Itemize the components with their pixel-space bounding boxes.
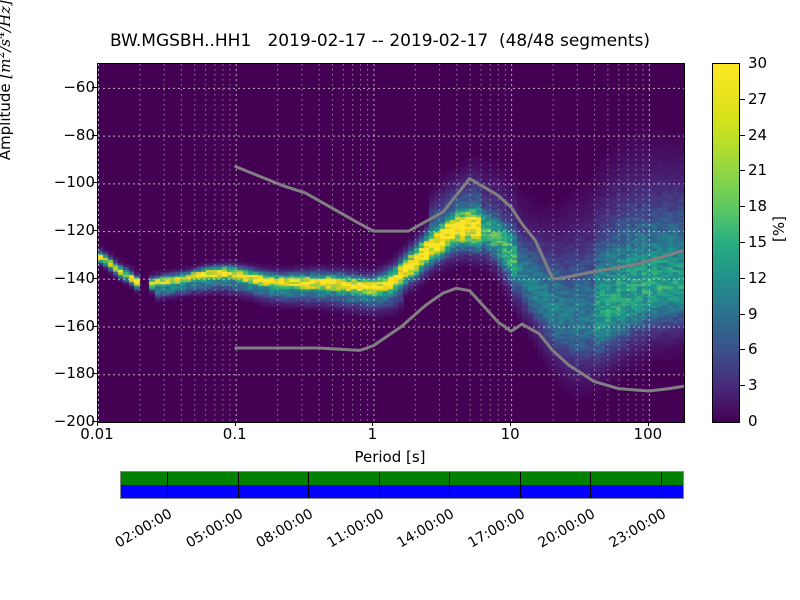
y-tick-label: −100 — [54, 173, 95, 191]
segment-timeline — [120, 471, 684, 499]
colorbar-tick-label: 0 — [748, 412, 758, 430]
timeline-tick-label: 17:00:00 — [455, 506, 527, 557]
timeline-tick-label: 05:00:00 — [173, 506, 245, 557]
timeline-tick-label: 02:00:00 — [103, 506, 175, 557]
timeline-tick-label: 11:00:00 — [314, 506, 386, 557]
timeline-separator — [308, 472, 309, 498]
y-tick-label: −160 — [54, 317, 95, 335]
colorbar-tick-mark — [740, 206, 745, 207]
timeline-data-band — [121, 472, 683, 485]
colorbar-label: [%] — [770, 216, 788, 242]
x-tick-mark — [372, 421, 373, 426]
colorbar-tick-label: 21 — [748, 161, 767, 179]
colorbar-tick-label: 27 — [748, 90, 767, 108]
timeline-separator — [379, 472, 380, 498]
y-tick-mark — [92, 326, 97, 327]
ppsd-figure: BW.MGSBH..HH1 2019-02-17 -- 2019-02-17 (… — [0, 0, 800, 600]
timeline-tick-label: 08:00:00 — [244, 506, 316, 557]
y-tick-label: −140 — [54, 269, 95, 287]
colorbar-tick-label: 3 — [748, 376, 758, 394]
y-tick-label: −80 — [63, 126, 95, 144]
colorbar-tick-mark — [740, 242, 745, 243]
timeline-separator — [520, 472, 521, 498]
colorbar-tick-mark — [740, 278, 745, 279]
y-tick-mark — [92, 135, 97, 136]
colorbar-tick-label: 12 — [748, 269, 767, 287]
x-tick-label: 10 — [501, 425, 520, 443]
timeline-tick-label: 14:00:00 — [385, 506, 457, 557]
colorbar — [712, 63, 740, 423]
x-tick-mark — [97, 421, 98, 426]
colorbar-tick-label: 18 — [748, 197, 767, 215]
colorbar-tick-label: 6 — [748, 340, 758, 358]
y-tick-label: −180 — [54, 364, 95, 382]
x-tick-mark — [510, 421, 511, 426]
y-tick-label: −120 — [54, 221, 95, 239]
y-tick-mark — [92, 278, 97, 279]
y-tick-mark — [92, 87, 97, 88]
colorbar-tick-label: 9 — [748, 305, 758, 323]
colorbar-tick-mark — [740, 349, 745, 350]
timeline-separator — [661, 472, 662, 498]
y-axis-label: Amplitude [m2/s4/Hz] [dB] — [0, 0, 14, 242]
y-tick-mark — [92, 182, 97, 183]
timeline-separator — [449, 472, 450, 498]
x-tick-label: 0.01 — [80, 425, 113, 443]
colorbar-tick-label: 24 — [748, 126, 767, 144]
colorbar-tick-label: 15 — [748, 233, 767, 251]
y-tick-mark — [92, 373, 97, 374]
plot-title: BW.MGSBH..HH1 2019-02-17 -- 2019-02-17 (… — [0, 31, 760, 51]
timeline-tick-label: 23:00:00 — [596, 506, 668, 557]
x-tick-label: 1 — [368, 425, 378, 443]
y-tick-label: −60 — [63, 78, 95, 96]
colorbar-tick-mark — [740, 385, 745, 386]
timeline-tick-label: 20:00:00 — [526, 506, 598, 557]
x-axis-label: Period [s] — [97, 448, 683, 466]
ppsd-axes — [97, 63, 685, 423]
colorbar-tick-mark — [740, 314, 745, 315]
colorbar-tick-mark — [740, 170, 745, 171]
colorbar-tick-mark — [740, 135, 745, 136]
colorbar-tick-label: 30 — [748, 54, 767, 72]
y-tick-mark — [92, 230, 97, 231]
x-tick-mark — [648, 421, 649, 426]
noise-model-curves — [98, 64, 684, 422]
x-tick-label: 0.1 — [223, 425, 247, 443]
timeline-separator — [590, 472, 591, 498]
timeline-used-band — [121, 485, 683, 498]
colorbar-tick-mark — [740, 99, 745, 100]
x-tick-label: 100 — [634, 425, 663, 443]
x-tick-mark — [235, 421, 236, 426]
timeline-separator — [167, 472, 168, 498]
timeline-separator — [238, 472, 239, 498]
